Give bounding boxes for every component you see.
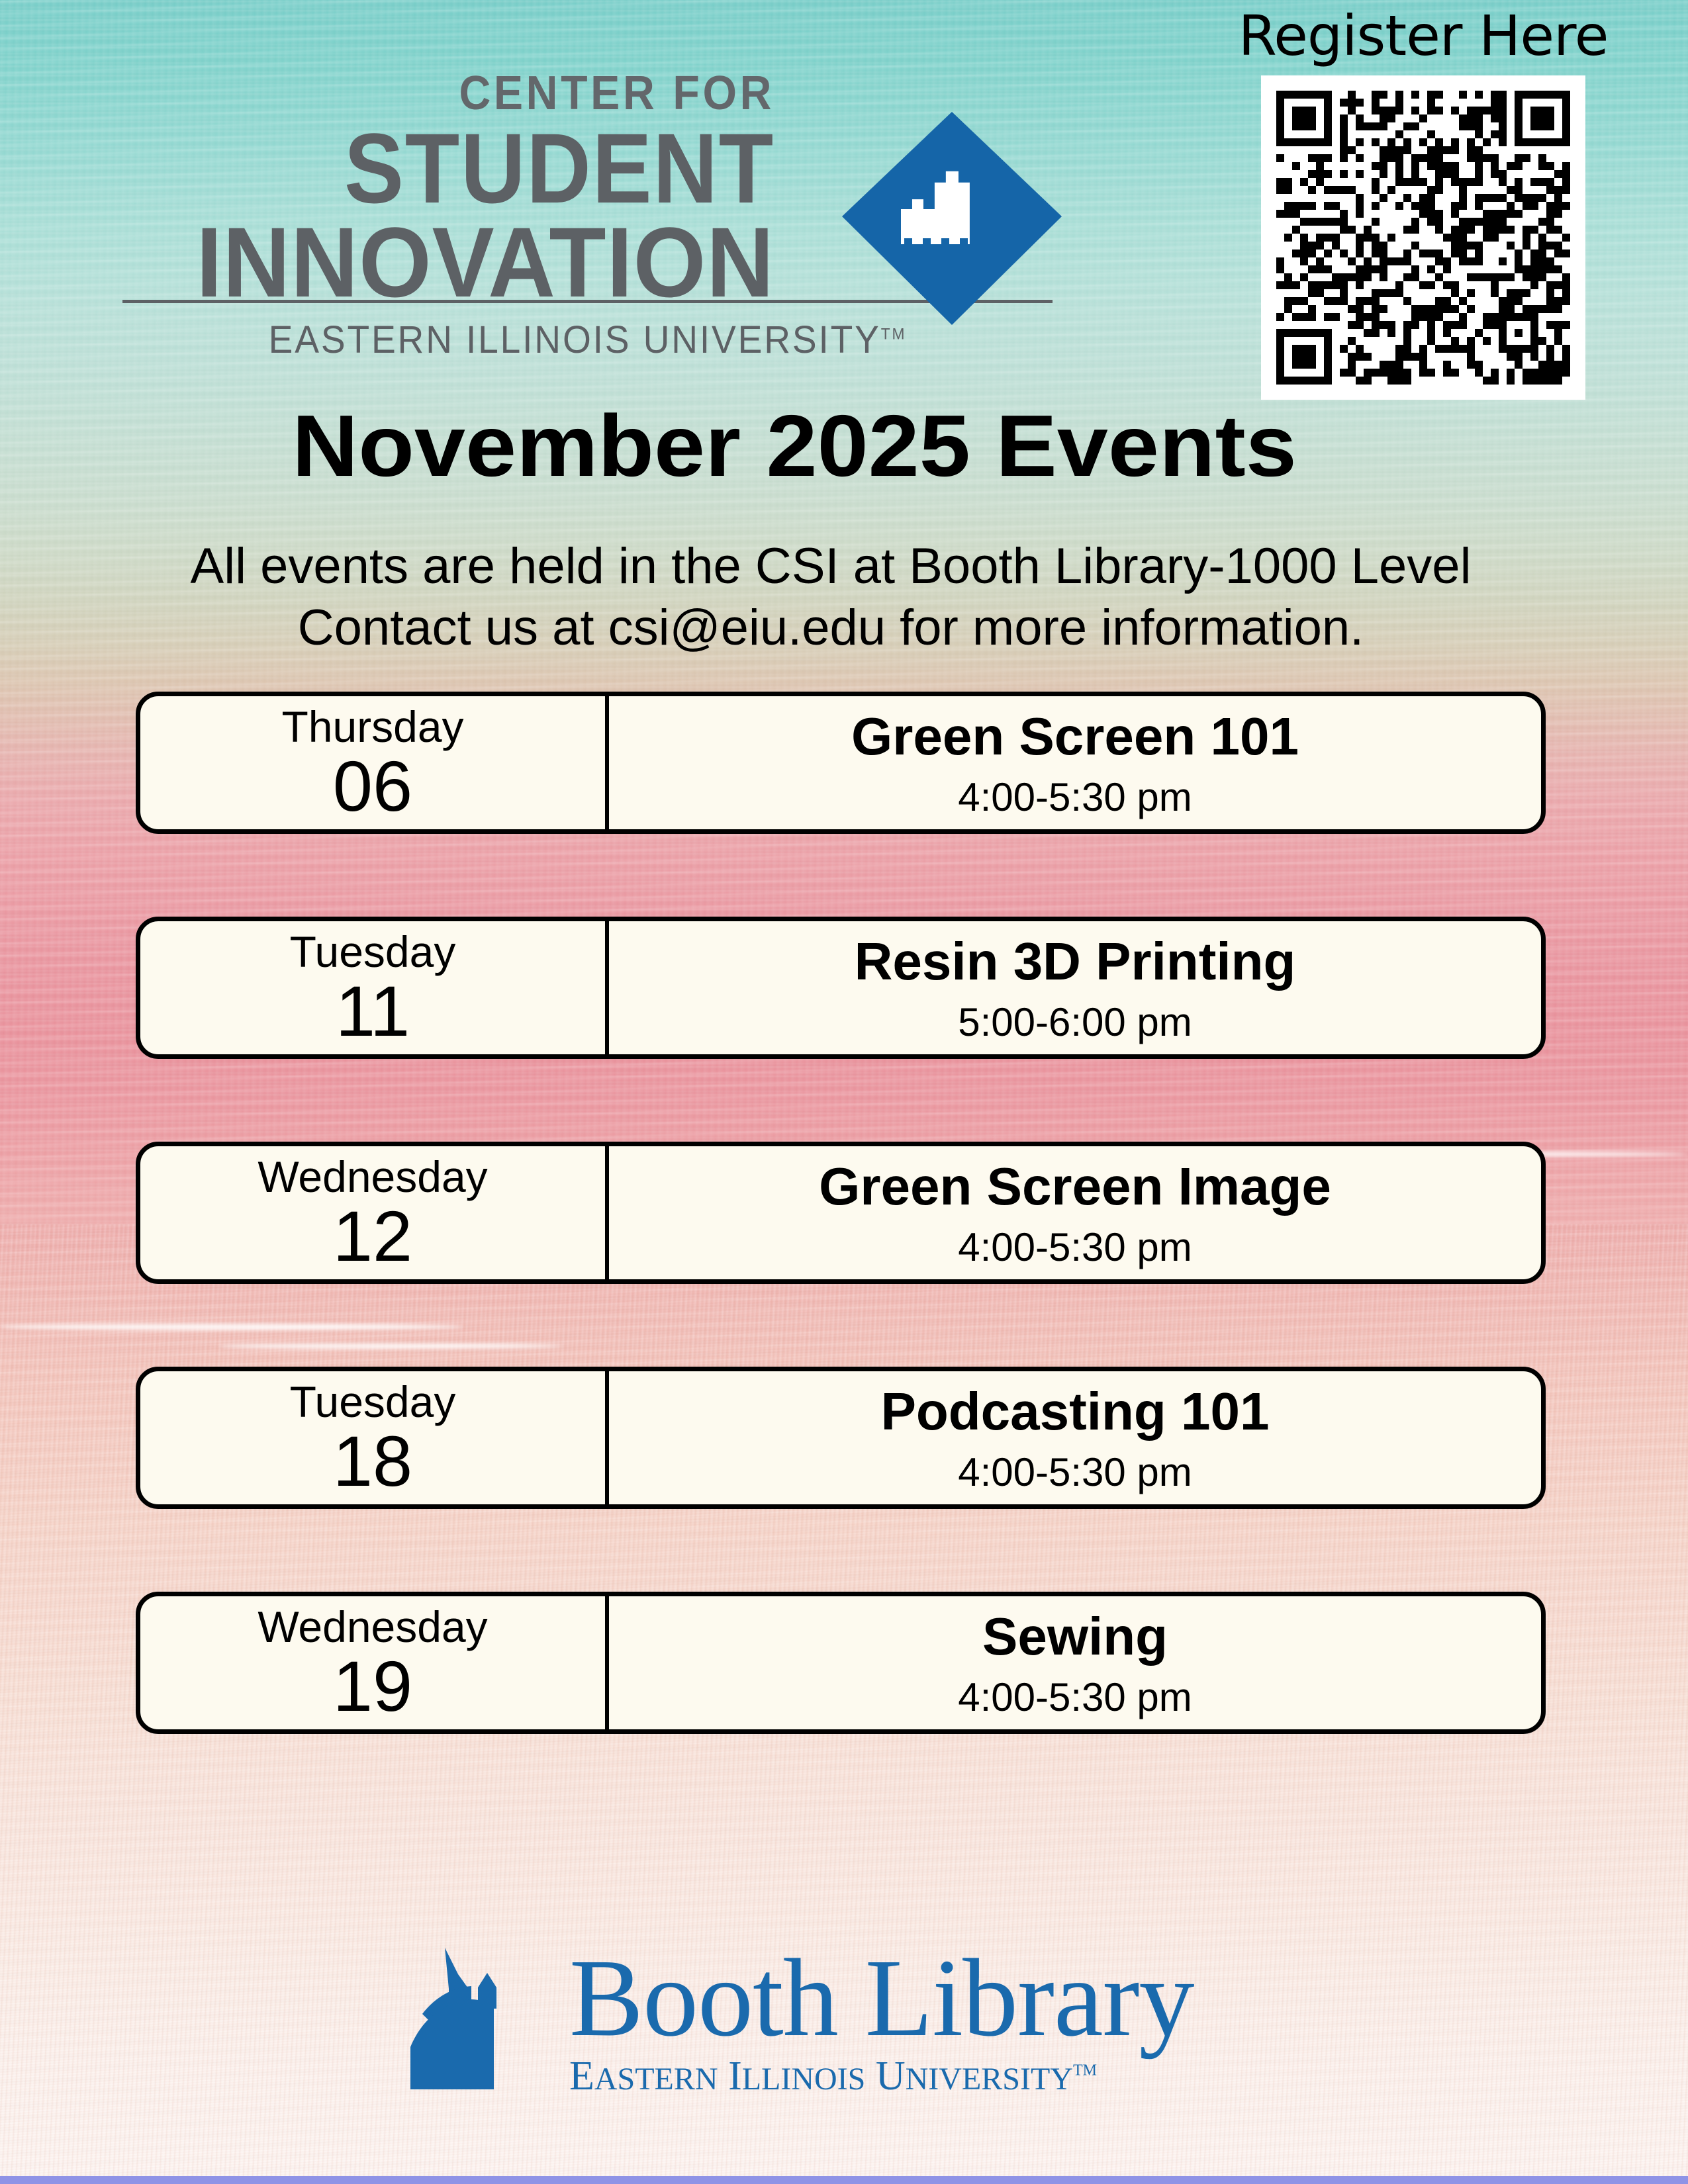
booth-library-trademark: TM: [1073, 2062, 1097, 2079]
event-detail-cell: Podcasting 1014:00-5:30 pm: [609, 1371, 1541, 1504]
event-day-number: 18: [333, 1425, 412, 1498]
booth-library-university-text: EASTERN ILLINOIS UNIVERSITY: [569, 2054, 1073, 2099]
csi-logo-line-student: STUDENT: [131, 118, 774, 218]
event-title: Green Screen Image: [819, 1159, 1331, 1214]
event-detail-cell: Green Screen Image4:00-5:30 pm: [609, 1146, 1541, 1279]
event-date-cell: Wednesday12: [140, 1146, 609, 1279]
event-card[interactable]: Tuesday11Resin 3D Printing5:00-6:00 pm: [136, 917, 1546, 1059]
event-time: 4:00-5:30 pm: [958, 1676, 1192, 1718]
event-time: 4:00-5:30 pm: [958, 1451, 1192, 1493]
event-title: Podcasting 101: [881, 1384, 1270, 1439]
event-weekday: Thursday: [281, 705, 463, 749]
event-card[interactable]: Wednesday12Green Screen Image4:00-5:30 p…: [136, 1142, 1546, 1284]
booth-library-building-icon: [397, 1936, 563, 2101]
event-weekday: Wednesday: [258, 1155, 487, 1199]
register-here-label: Register Here: [1185, 5, 1662, 66]
event-date-cell: Thursday06: [140, 696, 609, 829]
event-detail-cell: Resin 3D Printing5:00-6:00 pm: [609, 921, 1541, 1054]
event-weekday: Tuesday: [290, 930, 456, 974]
event-title: Resin 3D Printing: [855, 934, 1296, 989]
event-weekday: Wednesday: [258, 1605, 487, 1649]
event-detail-cell: Green Screen 1014:00-5:30 pm: [609, 696, 1541, 829]
bottom-accent-strip: [0, 2176, 1688, 2184]
event-time: 4:00-5:30 pm: [958, 776, 1192, 818]
event-card[interactable]: Tuesday18Podcasting 1014:00-5:30 pm: [136, 1367, 1546, 1509]
event-day-number: 12: [333, 1200, 412, 1273]
booth-library-wordmark: Booth Library EASTERN ILLINOIS UNIVERSIT…: [569, 1946, 1194, 2097]
poster-subtitle: All events are held in the CSI at Booth …: [99, 536, 1562, 659]
csi-logo-trademark: TM: [881, 326, 907, 343]
page-title: November 2025 Events: [65, 400, 1524, 492]
event-day-number: 19: [333, 1650, 412, 1723]
event-time: 4:00-5:30 pm: [958, 1226, 1192, 1268]
event-date-cell: Tuesday18: [140, 1371, 609, 1504]
event-date-cell: Wednesday19: [140, 1596, 609, 1729]
event-card[interactable]: Thursday06Green Screen 1014:00-5:30 pm: [136, 692, 1546, 834]
poster-canvas: CENTER FOR STUDENT INNOVATION EASTERN IL…: [0, 0, 1688, 2184]
csi-logo-line-center-for: CENTER FOR: [117, 69, 774, 117]
booth-library-university: EASTERN ILLINOIS UNIVERSITYTM: [569, 2056, 1194, 2097]
event-weekday: Tuesday: [290, 1380, 456, 1424]
event-title: Green Screen 101: [851, 709, 1299, 764]
event-card[interactable]: Wednesday19Sewing4:00-5:30 pm: [136, 1592, 1546, 1734]
csi-logo-text: CENTER FOR STUDENT INNOVATION: [60, 69, 774, 312]
event-day-number: 11: [336, 975, 410, 1048]
csi-logo-line-innovation: INNOVATION: [103, 212, 774, 312]
booth-library-logo: Booth Library EASTERN ILLINOIS UNIVERSIT…: [397, 1923, 1271, 2115]
event-date-cell: Tuesday11: [140, 921, 609, 1054]
csi-logo: CENTER FOR STUDENT INNOVATION EASTERN IL…: [60, 69, 1046, 367]
register-block[interactable]: Register Here: [1185, 5, 1662, 400]
qr-code-icon[interactable]: [1276, 91, 1570, 385]
qr-code-frame[interactable]: [1261, 75, 1585, 400]
csi-castle-diamond-icon: [800, 109, 1064, 328]
event-list: Thursday06Green Screen 1014:00-5:30 pmTu…: [136, 692, 1546, 1817]
booth-library-name: Booth Library: [569, 1946, 1194, 2052]
event-title: Sewing: [982, 1609, 1168, 1664]
event-time: 5:00-6:00 pm: [958, 1001, 1192, 1043]
csi-logo-university-label: EASTERN ILLINOIS UNIVERSITY: [269, 318, 881, 361]
poster-subtitle-line-1: All events are held in the CSI at Booth …: [99, 536, 1562, 598]
poster-subtitle-line-2: Contact us at csi@eiu.edu for more infor…: [99, 598, 1562, 659]
event-detail-cell: Sewing4:00-5:30 pm: [609, 1596, 1541, 1729]
event-day-number: 06: [333, 750, 412, 823]
